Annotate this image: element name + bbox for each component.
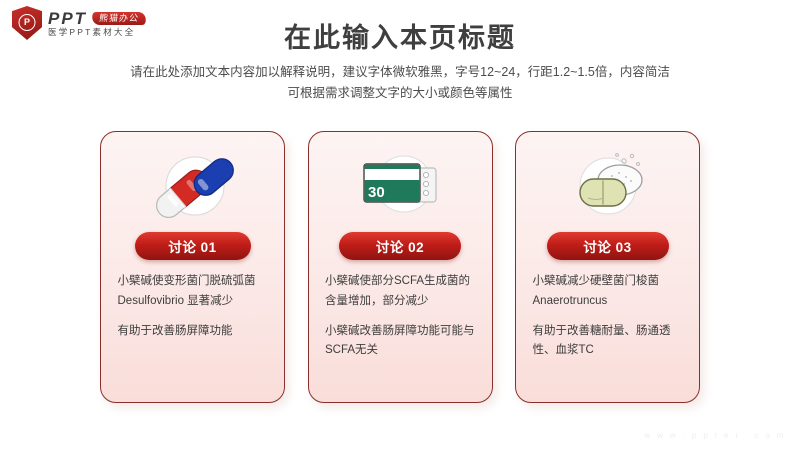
discussion-badge-1[interactable]: 讨论 01 <box>135 232 251 260</box>
subtitle-line-2: 可根据需求调整文字的大小或颜色等属性 <box>0 83 800 104</box>
discussion-body-1: 小檗碱使变形菌门脱硫弧菌 Desulfovibrio 显著减少 有助于改善肠屏障… <box>118 272 268 341</box>
discussion-card-1[interactable]: 讨论 01 小檗碱使变形菌门脱硫弧菌 Desulfovibrio 显著减少 有助… <box>100 131 285 403</box>
page-subtitle: 请在此处添加文本内容加以解释说明，建议字体微软雅黑，字号12~24，行距1.2~… <box>0 62 800 103</box>
medicine-box-icon: 30 <box>354 146 446 228</box>
discussion-body-2: 小檗碱使部分SCFA生成菌的含量增加，部分减少 小檗碱改善肠屏障功能可能与SCF… <box>325 272 475 361</box>
discussion-paragraph-2a: 小檗碱使部分SCFA生成菌的含量增加，部分减少 <box>325 272 475 312</box>
tablets-icon <box>562 146 654 228</box>
discussion-paragraph-1b: 有助于改善肠屏障功能 <box>118 322 268 342</box>
svg-text:30: 30 <box>368 184 385 201</box>
subtitle-line-1: 请在此处添加文本内容加以解释说明，建议字体微软雅黑，字号12~24，行距1.2~… <box>0 62 800 83</box>
discussion-paragraph-3a: 小檗碱减少硬壁菌门梭菌Anaerotruncus <box>533 272 683 312</box>
discussion-paragraph-3b: 有助于改善糖耐量、肠通透性、血浆TC <box>533 322 683 362</box>
capsules-icon <box>147 146 239 228</box>
discussion-cards-row: 讨论 01 小檗碱使变形菌门脱硫弧菌 Desulfovibrio 显著减少 有助… <box>100 131 700 403</box>
site-watermark: w w w . p p t e r . c o m <box>644 431 786 440</box>
discussion-card-2[interactable]: 30 讨论 02 小檗碱使部分SCFA生成菌的含量增加，部分减少 小檗碱改善肠屏… <box>308 131 493 403</box>
discussion-badge-2[interactable]: 讨论 02 <box>339 232 461 260</box>
discussion-badge-3[interactable]: 讨论 03 <box>547 232 669 260</box>
discussion-card-3[interactable]: 讨论 03 小檗碱减少硬壁菌门梭菌Anaerotruncus 有助于改善糖耐量、… <box>515 131 700 403</box>
discussion-body-3: 小檗碱减少硬壁菌门梭菌Anaerotruncus 有助于改善糖耐量、肠通透性、血… <box>533 272 683 361</box>
page-title: 在此输入本页标题 <box>0 16 800 55</box>
discussion-paragraph-2b: 小檗碱改善肠屏障功能可能与SCFA无关 <box>325 322 475 362</box>
discussion-paragraph-1a: 小檗碱使变形菌门脱硫弧菌 Desulfovibrio 显著减少 <box>118 272 268 312</box>
